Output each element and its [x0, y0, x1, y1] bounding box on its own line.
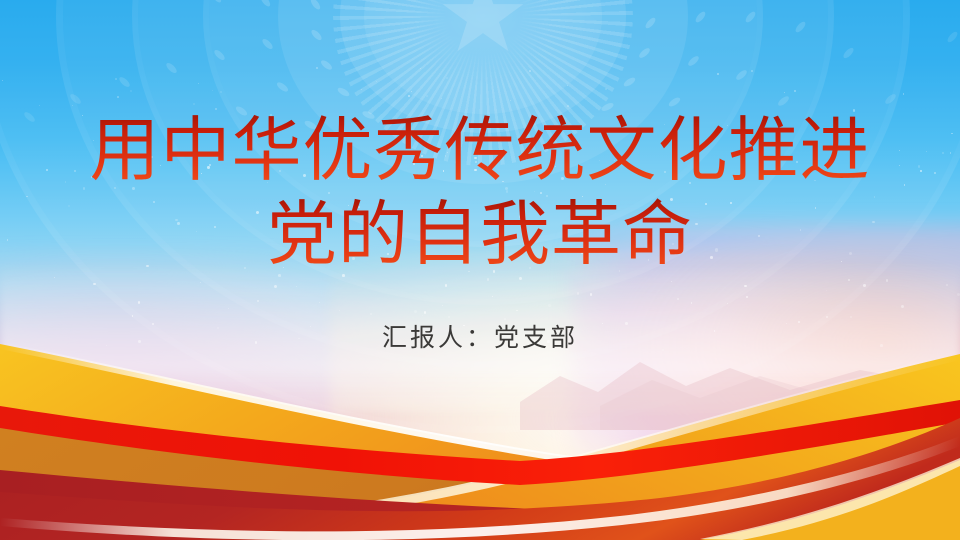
title-line-2: 党的自我革命: [0, 194, 960, 278]
five-pointed-star-icon: [439, 0, 527, 60]
title-slide: 用中华优秀传统文化推进 党的自我革命 汇报人：党支部: [0, 0, 960, 540]
slide-subtitle: 汇报人：党支部: [0, 318, 960, 354]
slide-title: 用中华优秀传统文化推进 党的自我革命: [0, 110, 960, 278]
title-line-1: 用中华优秀传统文化推进: [0, 110, 960, 194]
